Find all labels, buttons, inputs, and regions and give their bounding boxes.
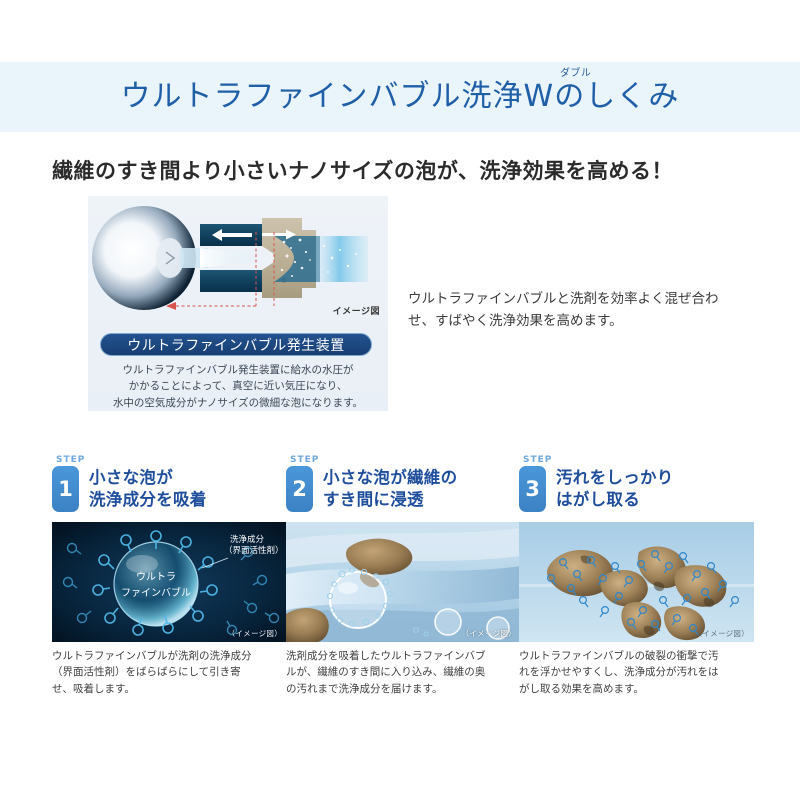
header-title-wrap: ダブル ウルトラファインバブル洗浄Wのしくみ bbox=[121, 82, 680, 112]
step-1-title-line-2: 洗浄成分を吸着 bbox=[89, 489, 207, 511]
step-1-caption-line-2: （界面活性剤）をばらばらにして引き寄 bbox=[52, 664, 287, 680]
infographic-page: ダブル ウルトラファインバブル洗浄Wのしくみ 繊維のすき間より小さいナノサイズの… bbox=[0, 0, 800, 800]
page-title: ウルトラファインバブル洗浄Wのしくみ bbox=[121, 82, 680, 112]
step-2-svg bbox=[286, 522, 521, 642]
step-3-label: STEP bbox=[523, 455, 754, 465]
section-subtitle: 繊維のすき間より小さいナノサイズの泡が、洗浄効果を高める！ bbox=[52, 155, 673, 185]
svg-text:ファインバブル: ファインバブル bbox=[121, 586, 191, 599]
step-3-caption: ウルトラファインバブルの破裂の衝撃で汚 れを浮かせやすくし、洗浄成分が汚れをは … bbox=[519, 648, 754, 697]
device-description-line-2: かかることによって、真空に近い気圧になり、 bbox=[88, 378, 388, 394]
device-name-badge-label: ウルトラファインバブル発生装置 bbox=[127, 335, 345, 355]
device-cross-section-illustration: イメージ図 bbox=[88, 196, 388, 321]
step-1-image-note: （イメージ図） bbox=[228, 628, 282, 639]
device-diagram-panel: イメージ図 ウルトラファインバブル発生装置 ウルトラファインバブル発生装置に給水… bbox=[88, 196, 388, 411]
step-3-title-line-1: 汚れをしっかり bbox=[556, 467, 674, 489]
step-1-svg: ウルトラ ファインバブル 洗浄成分 （界面活性剤） bbox=[52, 522, 287, 642]
step-1-illustration: ウルトラ ファインバブル 洗浄成分 （界面活性剤） （イメージ図） bbox=[52, 522, 287, 642]
step-3-title: 汚れをしっかり はがし取る bbox=[556, 466, 674, 512]
step-2-title-line-2: すき間に浸透 bbox=[323, 489, 457, 511]
device-description-line-1: ウルトラファインバブル発生装置に給水の水圧が bbox=[88, 362, 388, 378]
step-2-title: 小さな泡が繊維の すき間に浸透 bbox=[323, 466, 457, 512]
steps-section: STEP 1 小さな泡が 洗浄成分を吸着 bbox=[0, 455, 800, 755]
diagram-image-note: イメージ図 bbox=[333, 304, 380, 317]
step-1-title-line-1: 小さな泡が bbox=[89, 467, 207, 489]
step-3-header: 3 汚れをしっかり はがし取る bbox=[519, 466, 754, 512]
header-banner: ダブル ウルトラファインバブル洗浄Wのしくみ bbox=[0, 62, 800, 132]
step-1-caption-line-3: せ、吸着します。 bbox=[52, 681, 287, 697]
step-2-caption-line-1: 洗剤成分を吸着したウルトラファインバブ bbox=[286, 648, 521, 664]
step-card-1: STEP 1 小さな泡が 洗浄成分を吸着 bbox=[52, 455, 287, 697]
step-2-number: 2 bbox=[286, 466, 313, 512]
step-1-caption: ウルトラファインバブルが洗剤の洗浄成分 （界面活性剤）をばらばらにして引き寄 せ… bbox=[52, 648, 287, 697]
step-3-number: 3 bbox=[519, 466, 546, 512]
step-3-illustration: （イメージ図） bbox=[519, 522, 754, 642]
device-name-badge: ウルトラファインバブル発生装置 bbox=[100, 333, 372, 356]
intro-paragraph: ウルトラファインバブルと洗剤を効率よく混ぜ合わせ、すばやく洗浄効果を高めます。 bbox=[408, 288, 728, 333]
step-1-label: STEP bbox=[56, 455, 287, 465]
svg-text:洗浄成分: 洗浄成分 bbox=[230, 534, 265, 545]
device-svg bbox=[88, 196, 388, 321]
step-3-caption-line-2: れを浮かせやすくし、洗浄成分が汚れをは bbox=[519, 664, 754, 680]
device-description: ウルトラファインバブル発生装置に給水の水圧が かかることによって、真空に近い気圧… bbox=[88, 362, 388, 411]
device-description-line-3: 水中の空気成分がナノサイズの微細な泡になります。 bbox=[88, 395, 388, 411]
step-1-header: 1 小さな泡が 洗浄成分を吸着 bbox=[52, 466, 287, 512]
step-2-caption-line-2: ルが、繊維のすき間に入り込み、繊維の奥 bbox=[286, 664, 521, 680]
step-2-title-line-1: 小さな泡が繊維の bbox=[323, 467, 457, 489]
step-1-caption-line-1: ウルトラファインバブルが洗剤の洗浄成分 bbox=[52, 648, 287, 664]
step-3-title-line-2: はがし取る bbox=[556, 489, 674, 511]
step-card-2: STEP 2 小さな泡が繊維の すき間に浸透 bbox=[286, 455, 521, 697]
step-3-caption-line-3: がし取る効果を高めます。 bbox=[519, 681, 754, 697]
step-1-number: 1 bbox=[52, 466, 79, 512]
step-1-title: 小さな泡が 洗浄成分を吸着 bbox=[89, 466, 207, 512]
step-2-caption: 洗剤成分を吸着したウルトラファインバブ ルが、繊維のすき間に入り込み、繊維の奥 … bbox=[286, 648, 521, 697]
step-3-svg bbox=[519, 522, 754, 642]
step-2-label: STEP bbox=[290, 455, 521, 465]
step-2-illustration: （イメージ図） bbox=[286, 522, 521, 642]
svg-text:（界面活性剤）: （界面活性剤） bbox=[224, 545, 284, 556]
step-2-image-note: （イメージ図） bbox=[462, 628, 516, 639]
svg-text:ウルトラ: ウルトラ bbox=[136, 571, 176, 583]
step-card-3: STEP 3 汚れをしっかり はがし取る bbox=[519, 455, 754, 697]
step-3-image-note: （イメージ図） bbox=[695, 628, 749, 639]
step-2-caption-line-3: の汚れまで洗浄成分を届けます。 bbox=[286, 681, 521, 697]
step-3-caption-line-1: ウルトラファインバブルの破裂の衝撃で汚 bbox=[519, 648, 754, 664]
step-2-header: 2 小さな泡が繊維の すき間に浸透 bbox=[286, 466, 521, 512]
header-ruby-text: ダブル bbox=[560, 69, 592, 79]
